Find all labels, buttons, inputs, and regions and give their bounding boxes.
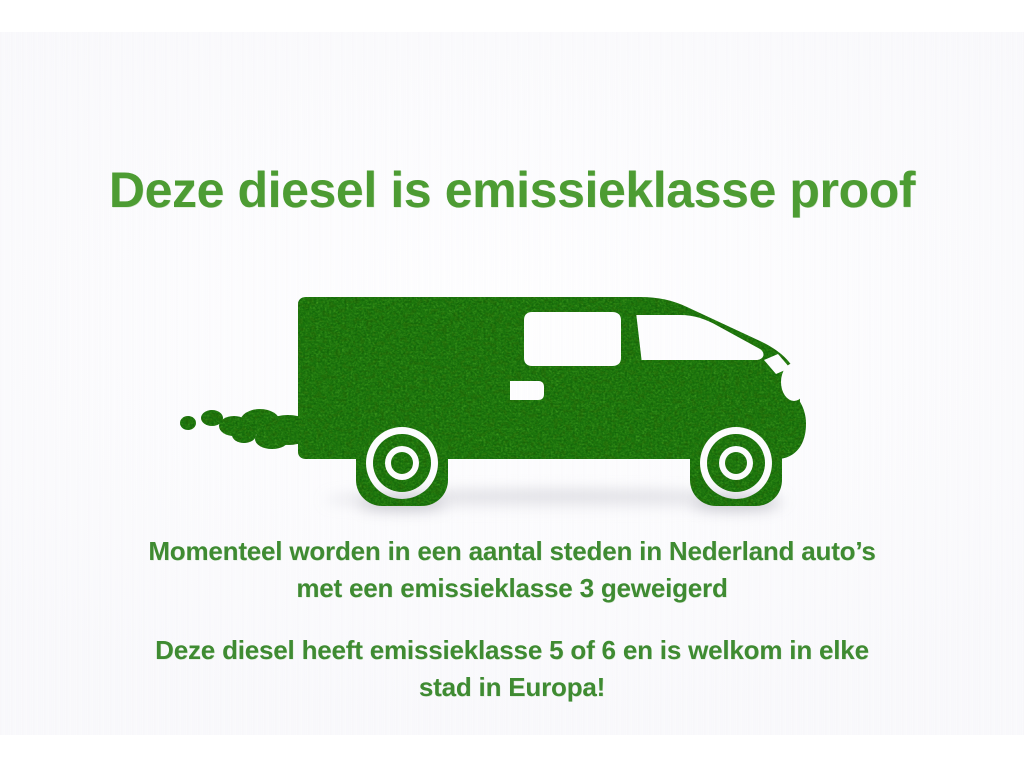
van-body xyxy=(160,242,870,527)
caption-emission-class-5-6: Deze diesel heeft emissieklasse 5 of 6 e… xyxy=(0,632,1024,706)
green-grass-van-illustration xyxy=(160,242,870,527)
caption-emission-class-3: Momenteel worden in een aantal steden in… xyxy=(0,533,1024,607)
page-title: Deze diesel is emissieklasse proof xyxy=(0,161,1024,219)
caption-line: Momenteel worden in een aantal steden in… xyxy=(0,533,1024,570)
poster-background: Deze diesel is emissieklasse proof xyxy=(0,32,1024,735)
banner-frame: Deze diesel is emissieklasse proof xyxy=(0,0,1024,768)
caption-line: Deze diesel heeft emissieklasse 5 of 6 e… xyxy=(0,632,1024,669)
caption-line: met een emissieklasse 3 geweigerd xyxy=(0,570,1024,607)
caption-line: stad in Europa! xyxy=(0,669,1024,706)
